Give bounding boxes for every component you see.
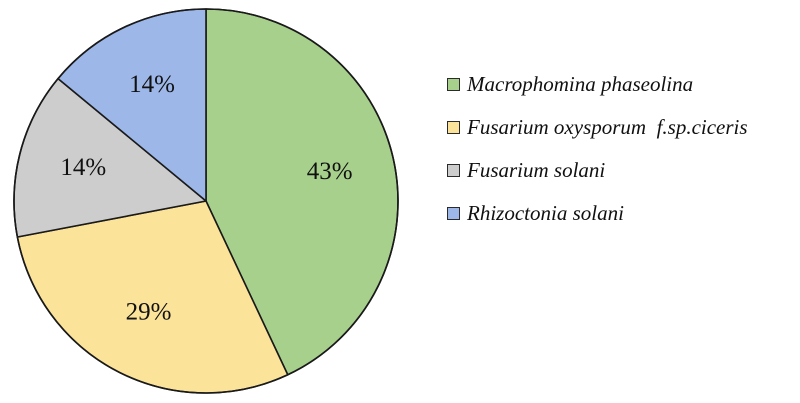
pie-slice-value-label-rhizoctonia-solani: 14% [129, 71, 175, 98]
pie-chart-figure: 43%29%14%14% Macrophomina phaseolina Fus… [0, 0, 800, 403]
pie-slice-value-label-fusarium-solani: 14% [60, 154, 106, 181]
legend-label-fusarium-solani: Fusarium solani [467, 160, 605, 181]
pie-chart-plot-area: 43%29%14%14% [0, 0, 420, 403]
legend-item-macrophomina-phaseolina[interactable]: Macrophomina phaseolina [447, 63, 797, 106]
legend-item-fusarium-solani[interactable]: Fusarium solani [447, 149, 797, 192]
legend-swatch-icon-fusarium-solani [447, 164, 460, 177]
legend-label-macrophomina-phaseolina: Macrophomina phaseolina [467, 74, 693, 95]
legend-item-rhizoctonia-solani[interactable]: Rhizoctonia solani [447, 192, 797, 235]
legend-swatch-icon-fusarium-oxysporum [447, 121, 460, 134]
legend-item-fusarium-oxysporum[interactable]: Fusarium oxysporum f.sp.ciceris [447, 106, 797, 149]
pie-slice-value-label-fusarium-oxysporum: 29% [126, 299, 172, 326]
legend-label-rhizoctonia-solani: Rhizoctonia solani [467, 203, 624, 224]
chart-legend: Macrophomina phaseolina Fusarium oxyspor… [447, 63, 797, 235]
pie-slice-value-label-macrophomina-phaseolina: 43% [307, 158, 353, 185]
legend-label-fusarium-oxysporum: Fusarium oxysporum f.sp.ciceris [467, 117, 748, 138]
pie-chart-svg: 43%29%14%14% [0, 0, 420, 403]
legend-swatch-icon-rhizoctonia-solani [447, 207, 460, 220]
pie-slices-group [14, 9, 398, 393]
legend-swatch-icon-macrophomina-phaseolina [447, 78, 460, 91]
